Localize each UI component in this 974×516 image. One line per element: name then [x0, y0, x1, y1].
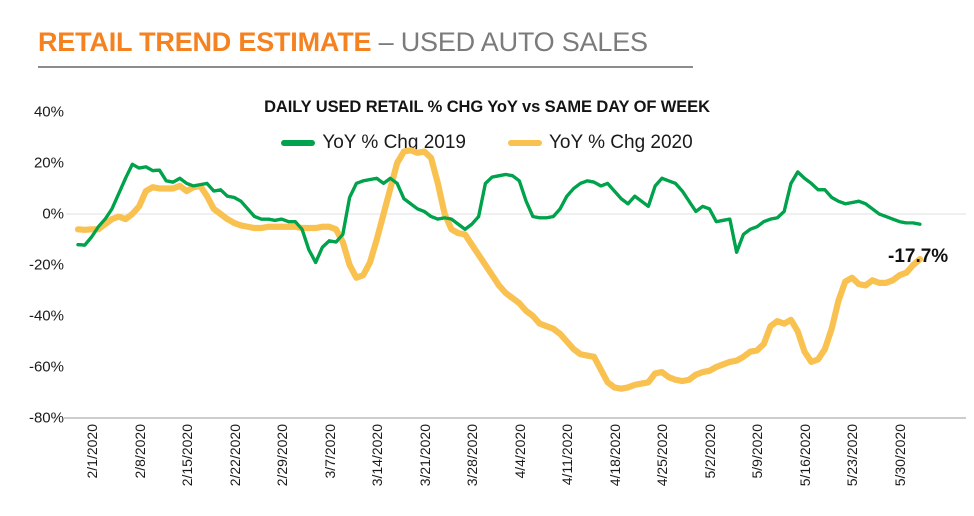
x-axis-tick-label: 4/4/2020: [512, 424, 528, 479]
x-axis-tick-label: 4/25/2020: [654, 424, 670, 486]
page-title-muted: USED AUTO SALES: [401, 27, 648, 57]
x-axis-tick-label: 3/28/2020: [464, 424, 480, 486]
x-axis-tick-label: 3/7/2020: [322, 424, 338, 479]
x-axis-tick-label: 3/21/2020: [417, 424, 433, 486]
x-axis-tick-label: 5/16/2020: [797, 424, 813, 486]
x-axis-tick-label: 2/29/2020: [274, 424, 290, 486]
x-axis-tick-label: 3/14/2020: [369, 424, 385, 486]
header-divider: [38, 66, 693, 68]
x-axis-tick-label: 2/15/2020: [179, 424, 195, 486]
x-axis-tick-label: 5/30/2020: [892, 424, 908, 486]
x-axis-tick-label: 4/18/2020: [607, 424, 623, 486]
x-axis-tick-label: 5/23/2020: [844, 424, 860, 486]
end-value-annotation: -17.7%: [888, 246, 948, 268]
x-axis-tick-label: 2/8/2020: [132, 424, 148, 479]
x-axis-tick-label: 5/9/2020: [749, 424, 765, 479]
page-title-dash: –: [371, 27, 400, 57]
page-header: RETAIL TREND ESTIMATE – USED AUTO SALES: [38, 26, 698, 68]
x-axis-tick-label: 2/22/2020: [227, 424, 243, 486]
page-title-accent: RETAIL TREND ESTIMATE: [38, 27, 371, 57]
x-axis-tick-label: 5/2/2020: [702, 424, 718, 479]
x-axis-tick-label: 2/1/2020: [84, 424, 100, 479]
x-axis-tick-label: 4/11/2020: [559, 424, 575, 485]
x-axis: 2/1/20202/8/20202/15/20202/22/20202/29/2…: [0, 88, 974, 516]
plot-area: 40%20%0%-20%-40%-60%-80% 2/1/20202/8/202…: [0, 88, 974, 516]
page-title: RETAIL TREND ESTIMATE – USED AUTO SALES: [38, 26, 698, 58]
chart-container: DAILY USED RETAIL % CHG YoY vs SAME DAY …: [0, 88, 974, 516]
